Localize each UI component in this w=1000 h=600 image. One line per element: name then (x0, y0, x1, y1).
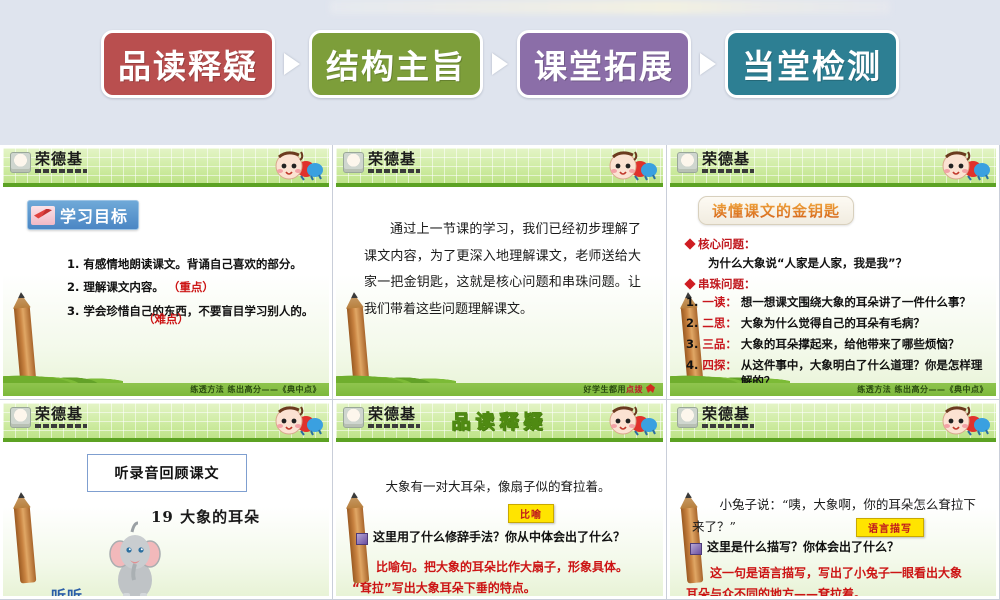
brand-subtitle-bars (702, 424, 754, 428)
brand-mark-icon (343, 152, 364, 173)
golden-key-badge-label: 读懂课文的金钥匙 (712, 202, 840, 220)
study-goals-badge-label: 学习目标 (60, 203, 128, 227)
lesson-title: 19 大象的耳朵 (151, 506, 260, 527)
core-question-heading: 核心问题： (686, 236, 986, 252)
list-tag: 三品： (702, 337, 737, 352)
caterpillar-mascot-icon (601, 404, 657, 437)
list-item: 2. 二思： 大象为什么觉得自己的耳朵有毛病？ (686, 316, 986, 331)
chevron-right-icon (492, 53, 508, 75)
slide-header-band: 荣德基 (670, 148, 996, 187)
core-question-text: 为什么大象说“人家是人家，我是我”？ (708, 256, 986, 271)
section-nav-banner: 品读释疑 结构主旨 课堂拓展 当堂检测 (0, 16, 1000, 111)
heading-label: 核心问题： (698, 236, 756, 252)
caterpillar-mascot-icon (934, 404, 990, 437)
slide-header-band: 荣德基 品读释疑 (336, 403, 663, 442)
quoted-sentence: 小兔子说：“咦，大象啊，你的耳朵怎么耷拉下来了？” (692, 494, 980, 538)
brand-name: 荣德基 (35, 407, 87, 422)
caterpillar-mascot-icon (601, 149, 657, 182)
list-text: 理解课文内容。 (83, 280, 164, 294)
question-text: 这里用了什么修辞手法？你从中体会出了什么？ (373, 530, 625, 546)
list-item: 1. 一读： 想一想课文围绕大象的耳朵讲了一件什么事？ (686, 295, 986, 310)
slide-grid: 荣德基 (0, 145, 1000, 600)
list-text: 大象为什么觉得自己的耳朵有毛病？ (741, 316, 925, 331)
slide-thumb-intro-paragraph[interactable]: 荣德基 (333, 145, 667, 400)
beads-question-list: 1. 一读： 想一想课文围绕大象的耳朵讲了一件什么事？ 2. 二思： 大象为什么… (686, 295, 986, 389)
diamond-bullet-icon (684, 238, 695, 249)
list-item: 3. 三品： 大象的耳朵撑起来，给他带来了哪些烦恼？ (686, 337, 986, 352)
section-chip-label: 结构主旨 (326, 40, 466, 88)
beads-question-heading: 串珠问题： (686, 276, 986, 292)
list-number: 2. (686, 316, 698, 331)
brand-mark-icon (10, 407, 31, 428)
answer-line-1: 这一句是语言描写，写出了小兔子一眼看出大象 (686, 564, 984, 583)
question-bullet-icon (690, 543, 702, 555)
section-chip-dangtangjiance[interactable]: 当堂检测 (725, 30, 899, 98)
question-bullet-icon (356, 533, 368, 545)
slide-thumbnail-page: 品读释疑 结构主旨 课堂拓展 当堂检测 (0, 0, 1000, 600)
caterpillar-mascot-icon (267, 404, 323, 437)
slide-body: 大象有一对大耳朵，像扇子似的耷拉着。 比喻 这里用了什么修辞手法？你从中体会出了… (336, 442, 663, 596)
list-number: 2. (67, 280, 79, 294)
chevron-right-icon (700, 53, 716, 75)
section-chip-label: 品读释疑 (118, 40, 258, 88)
brand-logo: 荣德基 (677, 152, 754, 173)
answer-line-1: 比喻句。把大象的耳朵比作大扇子，形象具体。 (352, 558, 651, 577)
slide-header-band: 荣德基 (336, 148, 663, 187)
section-chip-label: 课堂拓展 (534, 40, 674, 88)
slide-body: 学习目标 1. 有感情地朗读课文。背诵自己喜欢的部分。 2. 理解课文内容。 （… (3, 187, 329, 396)
list-text: 大象的耳朵撑起来，给他带来了哪些烦恼？ (741, 337, 960, 352)
slide-body: 听录音回顾课文 19 大象的耳朵 (3, 442, 329, 596)
brand-mark-icon (10, 152, 31, 173)
slide-header-band: 荣德基 (3, 148, 329, 187)
study-goals-badge: 学习目标 (27, 200, 139, 230)
section-chip-label: 当堂检测 (742, 40, 882, 88)
footer-slogan: 好学生都用点拨 (584, 384, 656, 395)
slide-header-band: 荣德基 (670, 403, 996, 442)
brand-subtitle-bars (35, 169, 87, 173)
list-item: 2. 理解课文内容。 （重点） (67, 280, 315, 294)
slide-thumb-golden-key[interactable]: 荣德基 (667, 145, 1000, 400)
footer-prefix: 好学生都用 (584, 385, 627, 394)
question-line: 这里用了什么修辞手法？你从中体会出了什么？ (356, 530, 651, 546)
top-blurred-strip (330, 0, 890, 14)
golden-key-badge: 读懂课文的金钥匙 (698, 196, 854, 225)
section-chip-ketangtuozhan[interactable]: 课堂拓展 (517, 30, 691, 98)
question-line: 这里是什么描写？你体会出了什么？ (690, 540, 984, 556)
intro-paragraph: 通过上一节课的学习，我们已经初步理解了课文内容，为了更深入地理解课文，老师送给大… (364, 217, 641, 324)
brand-name: 荣德基 (35, 152, 87, 167)
list-text: 有感情地朗读课文。背诵自己喜欢的部分。 (83, 257, 302, 271)
question-section: 核心问题： 为什么大象说“人家是人家，我是我”？ 串珠问题： 1. 一读： 想一… (686, 231, 986, 395)
rhetoric-tag-label: 比喻 (508, 504, 554, 523)
slide-body: 读懂课文的金钥匙 核心问题： 为什么大象说“人家是人家，我是我”？ 串珠问题： (670, 187, 996, 396)
section-chip-pinduoshiyi[interactable]: 品读释疑 (101, 30, 275, 98)
slide-header-band: 荣德基 (3, 403, 329, 442)
list-number: 1. (67, 257, 79, 271)
brand-subtitle-bars (702, 169, 754, 173)
listen-recording-title: 听录音回顾课文 (115, 466, 220, 482)
maple-leaf-icon (646, 384, 655, 393)
slide-thumb-study-goals[interactable]: 荣德基 (0, 145, 333, 400)
listen-caption: 听听 (51, 585, 83, 596)
answer-line-2: “耷拉”写出大象耳朵下垂的特点。 (352, 579, 651, 596)
brand-name: 荣德基 (702, 152, 754, 167)
list-tag: 一读： (702, 295, 737, 310)
slide-thumb-read-comprehend-1[interactable]: 荣德基 品读释疑 (333, 400, 667, 600)
brand-name: 荣德基 (702, 407, 754, 422)
difficulty-note: （难点） (3, 311, 329, 327)
description-tag-label: 语言描写 (856, 518, 924, 537)
footer-slogan: 练透方法 练出高分——《典中点》 (190, 384, 321, 395)
section-chip-group: 品读释疑 结构主旨 课堂拓展 当堂检测 (0, 16, 1000, 111)
list-note: （重点） (168, 280, 214, 294)
brand-logo: 荣德基 (10, 407, 87, 428)
heading-label: 串珠问题： (698, 276, 756, 292)
list-text: 想一想课文围绕大象的耳朵讲了一件什么事？ (741, 295, 971, 310)
brand-logo: 荣德基 (10, 152, 87, 173)
pencil-decoration-icon (14, 504, 37, 583)
chevron-right-icon (284, 53, 300, 75)
brand-logo: 荣德基 (343, 152, 420, 173)
elephant-illustration (107, 520, 163, 596)
list-item: 1. 有感情地朗读课文。背诵自己喜欢的部分。 (67, 257, 315, 271)
list-tag: 二思： (702, 316, 737, 331)
question-text: 这里是什么描写？你体会出了什么？ (707, 540, 899, 556)
footer-slogan: 练透方法 练出高分——《典中点》 (857, 384, 988, 395)
section-chip-jiegouzhuzhi[interactable]: 结构主旨 (309, 30, 483, 98)
listen-recording-box: 听录音回顾课文 (87, 454, 247, 492)
slide-body: 通过上一节课的学习，我们已经初步理解了课文内容，为了更深入地理解课文，老师送给大… (336, 187, 663, 396)
caterpillar-mascot-icon (267, 149, 323, 182)
footer-highlight: 点拨 (626, 385, 643, 394)
diamond-bullet-icon (684, 278, 695, 289)
slide-body: 小兔子说：“咦，大象啊，你的耳朵怎么耷拉下来了？” 语言描写 这里是什么描写？你… (670, 442, 996, 596)
list-number: 3. (686, 337, 698, 352)
brand-name: 荣德基 (368, 152, 420, 167)
answer-line-2: 耳朵与众不同的地方——耷拉着。 (686, 585, 984, 596)
caterpillar-mascot-icon (934, 149, 990, 182)
brand-mark-icon (677, 407, 698, 428)
quoted-sentence: 大象有一对大耳朵，像扇子似的耷拉着。 (358, 476, 647, 498)
list-number: 1. (686, 295, 698, 310)
brand-mark-icon (677, 152, 698, 173)
brand-logo: 荣德基 (677, 407, 754, 428)
slide-thumb-read-comprehend-2[interactable]: 荣德基 (667, 400, 1000, 600)
brand-subtitle-bars (368, 169, 420, 173)
bookmark-icon (31, 206, 55, 225)
brand-subtitle-bars (35, 424, 87, 428)
slide-thumb-listen-recording[interactable]: 荣德基 (0, 400, 333, 600)
